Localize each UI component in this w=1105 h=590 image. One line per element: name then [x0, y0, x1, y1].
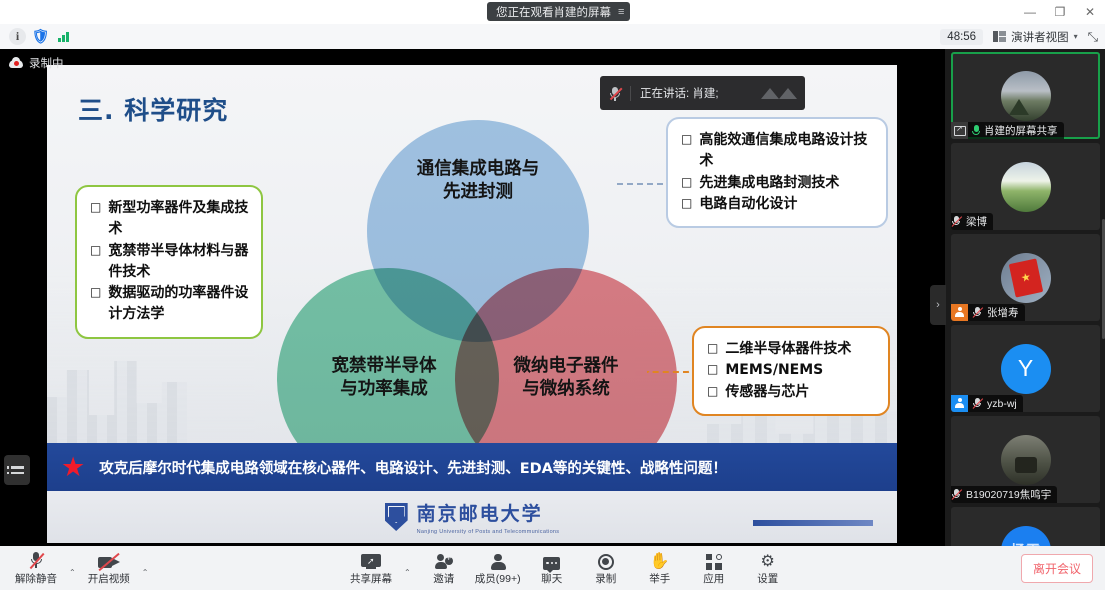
raise-hand-button[interactable]: ✋ 举手	[634, 547, 686, 589]
invite-button[interactable]: 邀请	[418, 547, 470, 589]
mic-muted-icon	[951, 215, 962, 228]
participant-tile[interactable]: 张增寿	[951, 234, 1100, 321]
info-icon[interactable]: i	[9, 28, 26, 45]
star-icon: ★	[61, 454, 85, 481]
view-mode-label: 演讲者视图	[1011, 29, 1069, 45]
participant-name: 梁博	[966, 214, 987, 229]
invite-label: 邀请	[433, 571, 454, 586]
record-label: 录制	[595, 571, 616, 586]
shield-icon[interactable]: 🛡	[32, 28, 49, 45]
person-icon	[951, 395, 968, 412]
avatar	[1001, 162, 1051, 212]
control-bar-center: ➚ 共享屏幕 ⌃ 邀请 成员(99+) 聊	[345, 547, 794, 589]
apps-icon	[706, 551, 722, 570]
mic-muted-icon	[972, 397, 983, 410]
gear-icon: ⚙	[761, 551, 775, 570]
participants-panel-toggle[interactable]	[4, 455, 30, 485]
participant-name: 肖建的屏幕共享	[984, 123, 1058, 138]
minimize-button[interactable]: —	[1015, 0, 1045, 24]
top-bar-right-controls: 48:56 演讲者视图 ▾ ⤡	[940, 29, 1105, 45]
callout-item: 数据驱动的功率器件设计方法学	[108, 283, 251, 326]
share-screen-icon: ➚	[361, 551, 381, 570]
callout-item: 传感器与芯片	[725, 382, 809, 403]
avatar: Y	[1001, 344, 1051, 394]
bullet-icon: □	[90, 241, 101, 260]
participant-name: B19020719焦鸣宇	[966, 487, 1051, 502]
callout-item: 宽禁带半导体材料与器件技术	[108, 241, 251, 284]
fullscreen-icon[interactable]: ⤡	[1088, 29, 1097, 45]
raise-hand-label: 举手	[649, 571, 670, 586]
watching-menu-icon[interactable]: ≡	[618, 6, 623, 18]
callout-item: 先进集成电路封测技术	[699, 173, 839, 194]
participant-tile[interactable]: 肖建的屏幕共享	[951, 52, 1100, 139]
apps-button[interactable]: 应用	[688, 547, 740, 589]
callout-item: 新型功率器件及集成技术	[108, 198, 251, 241]
slide-banner-text: 攻克后摩尔时代集成电路领域在核心器件、电路设计、先进封测、EDA等的关键性、战略…	[99, 457, 727, 478]
university-name-en: Nanjing University of Posts and Telecomm…	[417, 529, 560, 535]
participant-name-bar: 肖建的屏幕共享	[951, 122, 1064, 139]
record-icon	[598, 551, 614, 570]
callout-item: 电路自动化设计	[699, 194, 797, 215]
slide-banner: ★ 攻克后摩尔时代集成电路领域在核心器件、电路设计、先进封测、EDA等的关键性、…	[47, 443, 897, 491]
avatar: 杨震	[1001, 526, 1051, 547]
chat-icon	[543, 551, 560, 570]
active-speaker-label: 正在讲话: 肖建;	[640, 85, 719, 101]
participant-tile[interactable]: 杨震	[951, 507, 1100, 546]
bullet-icon: □	[681, 130, 692, 149]
members-button[interactable]: 成员(99+)	[472, 547, 524, 589]
callout-power-devices: □新型功率器件及集成技术 □宽禁带半导体材料与器件技术 □数据驱动的功率器件设计…	[75, 185, 263, 339]
mute-button-label: 解除静音	[15, 571, 57, 586]
signal-icon[interactable]	[55, 28, 72, 45]
callout-item: MEMS/NEMS	[725, 360, 823, 381]
recording-indicator: 录制中	[9, 55, 64, 71]
host-icon	[951, 304, 968, 321]
title-bar: 您正在观看肖建的屏幕 ≡ — ❐ ✕	[0, 0, 1105, 24]
record-button[interactable]: 录制	[580, 547, 632, 589]
mic-muted-icon	[29, 551, 44, 570]
meeting-top-bar: i 🛡 48:56 演讲者视图 ▾ ⤡	[0, 24, 1105, 49]
callout-micro-nano: □二维半导体器件技术 □MEMS/NEMS □传感器与芯片	[692, 326, 890, 416]
camera-muted-icon	[98, 551, 120, 570]
participant-name-bar: 张增寿	[951, 304, 1025, 321]
mute-button[interactable]: 解除静音	[10, 547, 62, 589]
recording-label: 录制中	[29, 55, 64, 71]
share-options-chevron-icon[interactable]: ⌃	[399, 568, 416, 577]
venn-label-communication: 通信集成电路与 先进封测	[369, 158, 587, 204]
participant-name: 张增寿	[987, 305, 1019, 320]
slide-footer: 南京邮电大学 Nanjing University of Posts and T…	[47, 491, 897, 543]
bullet-icon: □	[707, 360, 718, 379]
meeting-control-bar: 解除静音 ⌃ 开启视频 ⌃ ➚ 共享屏幕 ⌃	[0, 546, 1105, 590]
avatar	[1001, 435, 1051, 485]
watching-screen-text: 您正在观看肖建的屏幕	[496, 4, 611, 20]
bullet-icon: □	[90, 198, 101, 217]
window-controls: — ❐ ✕	[1015, 0, 1105, 24]
control-bar-right: 离开会议	[1021, 554, 1105, 583]
footer-accent-bar	[753, 520, 873, 526]
mic-muted-icon	[972, 306, 983, 319]
venn-diagram: 通信集成电路与 先进封测 宽禁带半导体 与功率集成 微纳电子器件 与微纳系统	[277, 120, 677, 490]
meeting-window: 您正在观看肖建的屏幕 ≡ — ❐ ✕ i 🛡 48:56 演讲者视图 ▾ ⤡	[0, 0, 1105, 590]
presentation-slide: 三. 科学研究 通信集成电路与 先进封测 宽禁带半导体 与功率集成 微纳电子器件…	[47, 65, 897, 543]
participant-name-bar: 梁博	[951, 213, 993, 230]
mic-muted-icon	[609, 86, 621, 101]
venn-label-micro-nano: 微纳电子器件 与微纳系统	[455, 355, 677, 401]
collapse-rail-button[interactable]: ›	[930, 285, 946, 325]
camera-options-chevron-icon[interactable]: ⌃	[137, 568, 154, 577]
avatar	[1001, 71, 1051, 121]
view-mode-selector[interactable]: 演讲者视图 ▾	[993, 29, 1078, 45]
callout-item: 二维半导体器件技术	[725, 339, 851, 360]
close-button[interactable]: ✕	[1075, 0, 1105, 24]
maximize-button[interactable]: ❐	[1045, 0, 1075, 24]
share-screen-label: 共享屏幕	[350, 571, 392, 586]
active-speaker-bar: 正在讲话: 肖建;	[600, 76, 805, 110]
shared-screen-stage: 录制中 正在讲话: 肖建; › 三. 科学研究 通信集成电路与 先进封	[0, 49, 945, 546]
top-bar-left-icons: i 🛡	[0, 28, 72, 45]
university-crest-icon	[385, 503, 408, 531]
callout-communication-ic: □高能效通信集成电路设计技术 □先进集成电路封测技术 □电路自动化设计	[666, 117, 888, 228]
participant-name-bar: yzb-wj	[951, 395, 1023, 412]
cloud-record-icon	[9, 58, 23, 68]
settings-button[interactable]: ⚙ 设置	[742, 547, 794, 589]
leave-meeting-button[interactable]: 离开会议	[1021, 554, 1093, 583]
people-icon	[490, 551, 506, 570]
mic-muted-icon	[951, 488, 962, 501]
hand-icon: ✋	[650, 551, 670, 570]
participant-name-bar: B19020719焦鸣宇	[951, 486, 1057, 503]
bullet-icon: □	[681, 194, 692, 213]
connector-blue	[617, 183, 673, 221]
members-label: 成员(99+)	[475, 571, 521, 586]
settings-label: 设置	[757, 571, 778, 586]
mic-on-icon	[972, 125, 980, 137]
chat-label: 聊天	[541, 571, 562, 586]
bullet-icon: □	[90, 283, 101, 302]
university-name-cn: 南京邮电大学	[417, 503, 543, 525]
bullet-icon: □	[707, 382, 718, 401]
audio-wave-icon	[761, 88, 797, 99]
participant-tile[interactable]: Y yzb-wj	[951, 325, 1100, 412]
chat-button[interactable]: 聊天	[526, 547, 578, 589]
mic-options-chevron-icon[interactable]: ⌃	[64, 568, 81, 577]
participant-tile[interactable]: 梁博	[951, 143, 1100, 230]
video-button[interactable]: 开启视频	[83, 547, 135, 589]
control-bar-left: 解除静音 ⌃ 开启视频 ⌃	[0, 547, 153, 589]
apps-label: 应用	[703, 571, 724, 586]
bullet-icon: □	[681, 173, 692, 192]
speaker-view-icon	[993, 31, 1006, 42]
participants-rail: 肖建的屏幕共享 梁博 张增寿 Y yzb-wj	[945, 49, 1105, 546]
participant-name: yzb-wj	[987, 398, 1017, 410]
meeting-timer: 48:56	[940, 29, 983, 45]
chevron-down-icon: ▾	[1074, 32, 1078, 41]
watching-screen-notice: 您正在观看肖建的屏幕 ≡	[487, 2, 630, 21]
bullet-icon: □	[707, 339, 718, 358]
screen-share-icon	[951, 122, 968, 139]
share-screen-button[interactable]: ➚ 共享屏幕	[345, 547, 397, 589]
callout-item: 高能效通信集成电路设计技术	[699, 130, 876, 173]
invite-icon	[435, 551, 453, 570]
participant-tile[interactable]: B19020719焦鸣宇	[951, 416, 1100, 503]
avatar	[1001, 253, 1051, 303]
slide-title: 三. 科学研究	[78, 91, 228, 127]
video-button-label: 开启视频	[88, 571, 130, 586]
